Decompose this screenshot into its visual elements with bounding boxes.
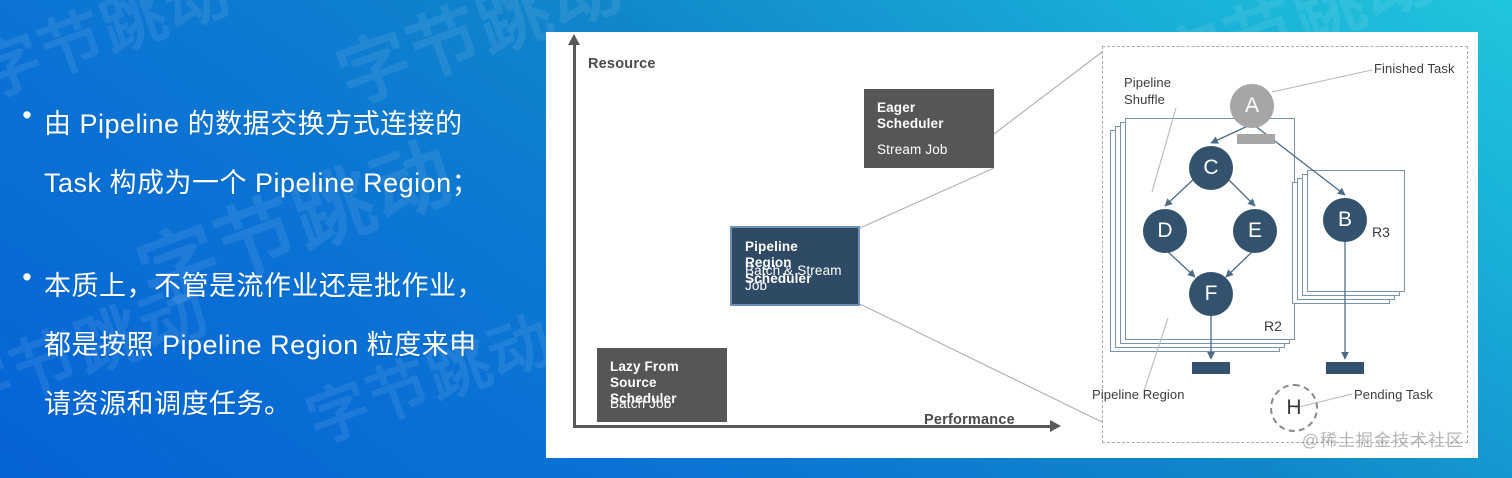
task-node-label: A: [1245, 94, 1259, 118]
output-bar-r3: [1326, 362, 1364, 374]
task-node-label: C: [1203, 156, 1218, 180]
task-node-label: B: [1338, 208, 1352, 232]
task-node-b[interactable]: B: [1323, 198, 1367, 242]
scheduler-subtitle: Batch & Stream Job: [745, 263, 858, 293]
annotation-pipeline-shuffle: Pipeline Shuffle: [1124, 74, 1171, 108]
annotation-pending-task: Pending Task: [1354, 386, 1433, 403]
bullet-line: 由 Pipeline 的数据交换方式连接的: [44, 95, 479, 154]
scheduler-box-pipeline-region[interactable]: Pipeline Region Scheduler Batch & Stream…: [730, 226, 860, 306]
scheduler-subtitle: Stream Job: [877, 142, 948, 157]
bullet-text: 本质上，不管是流作业还是批作业， 都是按照 Pipeline Region 粒度…: [44, 257, 484, 434]
task-node-f[interactable]: F: [1189, 272, 1233, 316]
task-node-label: F: [1205, 282, 1218, 306]
scheduler-box-eager[interactable]: Eager Scheduler Stream Job: [864, 89, 994, 168]
list-item: • 本质上，不管是流作业还是批作业， 都是按照 Pipeline Region …: [10, 257, 520, 434]
task-node-label: D: [1157, 219, 1172, 243]
bullet-line: 请资源和调度任务。: [44, 375, 484, 434]
region-label-r2: R2: [1264, 318, 1282, 334]
scheduler-subtitle: Batch Job: [610, 396, 671, 411]
task-graph: A C D E F B H R2: [1102, 46, 1468, 443]
diagram-panel: Resource Performance Eager Scheduler Str…: [546, 32, 1478, 458]
shuffle-bar-a: [1237, 134, 1275, 144]
bullet-text: 由 Pipeline 的数据交换方式连接的 Task 构成为一个 Pipelin…: [44, 95, 479, 213]
bullet-list: • 由 Pipeline 的数据交换方式连接的 Task 构成为一个 Pipel…: [10, 95, 520, 478]
bullet-marker: •: [10, 257, 44, 298]
slide-root: 字节跳动 字节跳动 字节跳动 字节跳动 字节跳动 字节跳动 • 由 Pipeli…: [0, 0, 1512, 478]
scheduler-box-lazy-from-source[interactable]: Lazy From Source Scheduler Batch Job: [597, 348, 727, 422]
bullet-line: 都是按照 Pipeline Region 粒度来申: [44, 316, 484, 375]
task-node-label: E: [1248, 219, 1262, 243]
output-bar-r2: [1192, 362, 1230, 374]
task-node-d[interactable]: D: [1143, 209, 1187, 253]
bullet-line: Task 构成为一个 Pipeline Region；: [44, 154, 479, 213]
bullet-line: 本质上，不管是流作业还是批作业，: [44, 257, 484, 316]
task-node-label: H: [1286, 396, 1301, 420]
list-item: • 由 Pipeline 的数据交换方式连接的 Task 构成为一个 Pipel…: [10, 95, 520, 213]
task-node-e[interactable]: E: [1233, 209, 1277, 253]
region-label-r3: R3: [1372, 224, 1390, 240]
annotation-finished-task: Finished Task: [1374, 60, 1455, 77]
task-node-h[interactable]: H: [1270, 384, 1318, 432]
bullet-marker: •: [10, 95, 44, 136]
scheduler-title: Eager Scheduler: [877, 100, 981, 132]
task-node-a[interactable]: A: [1230, 84, 1274, 128]
annotation-pipeline-region: Pipeline Region: [1092, 386, 1185, 403]
task-node-c[interactable]: C: [1189, 146, 1233, 190]
site-watermark: @稀土掘金技术社区: [1302, 426, 1464, 451]
